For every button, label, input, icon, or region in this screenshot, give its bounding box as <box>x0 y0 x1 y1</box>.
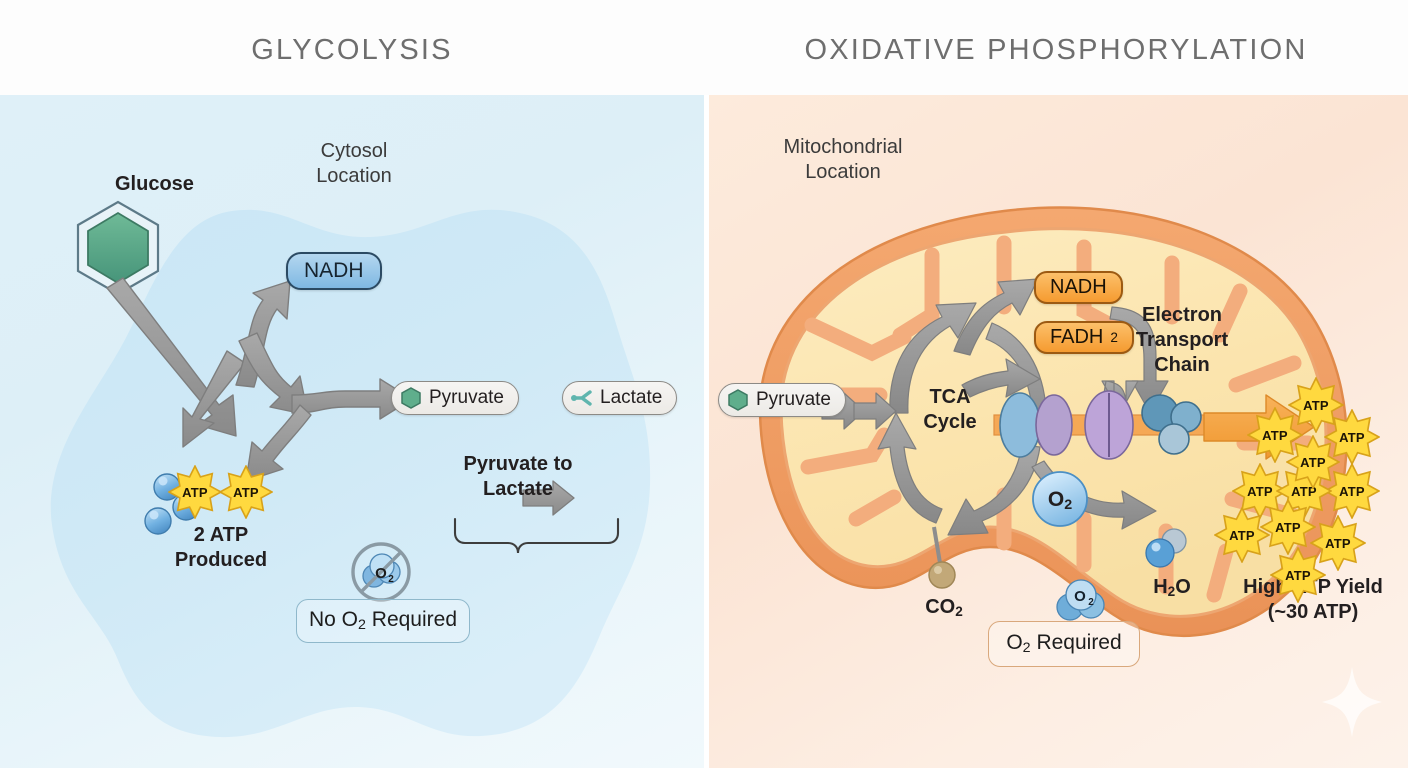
atp-star: ATP <box>168 465 222 519</box>
glucose-hexagon-icon <box>78 202 158 294</box>
pyruvate-to-lactate-caption: Pyruvate to Lactate <box>456 452 580 502</box>
glycolysis-graphics: O 2 <box>0 95 704 768</box>
nadh-badge[interactable]: NADH <box>286 252 382 290</box>
oxidative-phosphorylation-title: OXIDATIVE PHOSPHORYLATION <box>704 34 1408 67</box>
glycolysis-panel: O 2 Cytosol Location Glucose NADH Pyruva… <box>0 95 704 768</box>
lactate-molecule-icon <box>571 386 593 410</box>
water-label: H2O <box>1138 575 1206 604</box>
oxygen-molecule-label: O2 <box>1036 487 1084 518</box>
svg-text:2: 2 <box>388 574 394 585</box>
nadh-badge-oxphos[interactable]: NADH <box>1034 271 1123 304</box>
pyruvate-badge[interactable]: Pyruvate <box>391 381 519 415</box>
pyruvate-hexagon-icon <box>400 386 422 410</box>
header-bar: GLYCOLYSIS OXIDATIVE PHOSPHORYLATION <box>0 0 1408 95</box>
tca-cycle-label: TCA Cycle <box>900 385 1000 435</box>
glucose-label: Glucose <box>115 172 194 197</box>
cytosol-location-label: Cytosol Location <box>292 139 416 189</box>
etc-complex-3 <box>1085 391 1133 459</box>
co2-molecule-icon <box>929 562 955 588</box>
oxygen-required-label: O2 Required <box>1006 631 1121 656</box>
panel-divider <box>704 95 709 768</box>
atp-star: ATP <box>1288 377 1344 433</box>
svg-text:O: O <box>1074 588 1086 605</box>
svg-text:2: 2 <box>1088 597 1094 608</box>
etc-complex-2 <box>1036 395 1072 455</box>
oxygen-required-box[interactable]: O2 Required <box>988 621 1140 667</box>
glycolysis-title: GLYCOLYSIS <box>0 34 704 67</box>
diagram-root: GLYCOLYSIS OXIDATIVE PHOSPHORYLATION <box>0 0 1408 768</box>
no-oxygen-required-label: No O2 Required <box>309 608 457 633</box>
no-oxygen-required-box[interactable]: No O2 Required <box>296 599 470 643</box>
mitochondrial-location-label: Mitochondrial Location <box>748 135 938 185</box>
oxphos-panel: Mitochondrial Location Pyruvate TCA Cycl… <box>704 95 1408 768</box>
electron-transport-chain-label: Electron Transport Chain <box>1108 303 1256 378</box>
etc-complex-1 <box>1000 393 1040 457</box>
svg-text:O: O <box>375 565 387 582</box>
pyruvate-hexagon-icon <box>727 388 749 412</box>
co2-label: CO2 <box>912 595 976 624</box>
atp-star: ATP <box>1270 547 1326 603</box>
pyruvate-badge-oxphos[interactable]: Pyruvate <box>718 383 846 417</box>
lactate-badge[interactable]: Lactate <box>562 381 677 415</box>
atp-star: ATP <box>219 465 273 519</box>
atp-produced-caption: 2 ATP Produced <box>158 523 284 573</box>
oxygen-required-icon: O 2 <box>1051 577 1111 623</box>
sparkle-decoration <box>1322 667 1382 737</box>
atp-star: ATP <box>1286 435 1340 489</box>
